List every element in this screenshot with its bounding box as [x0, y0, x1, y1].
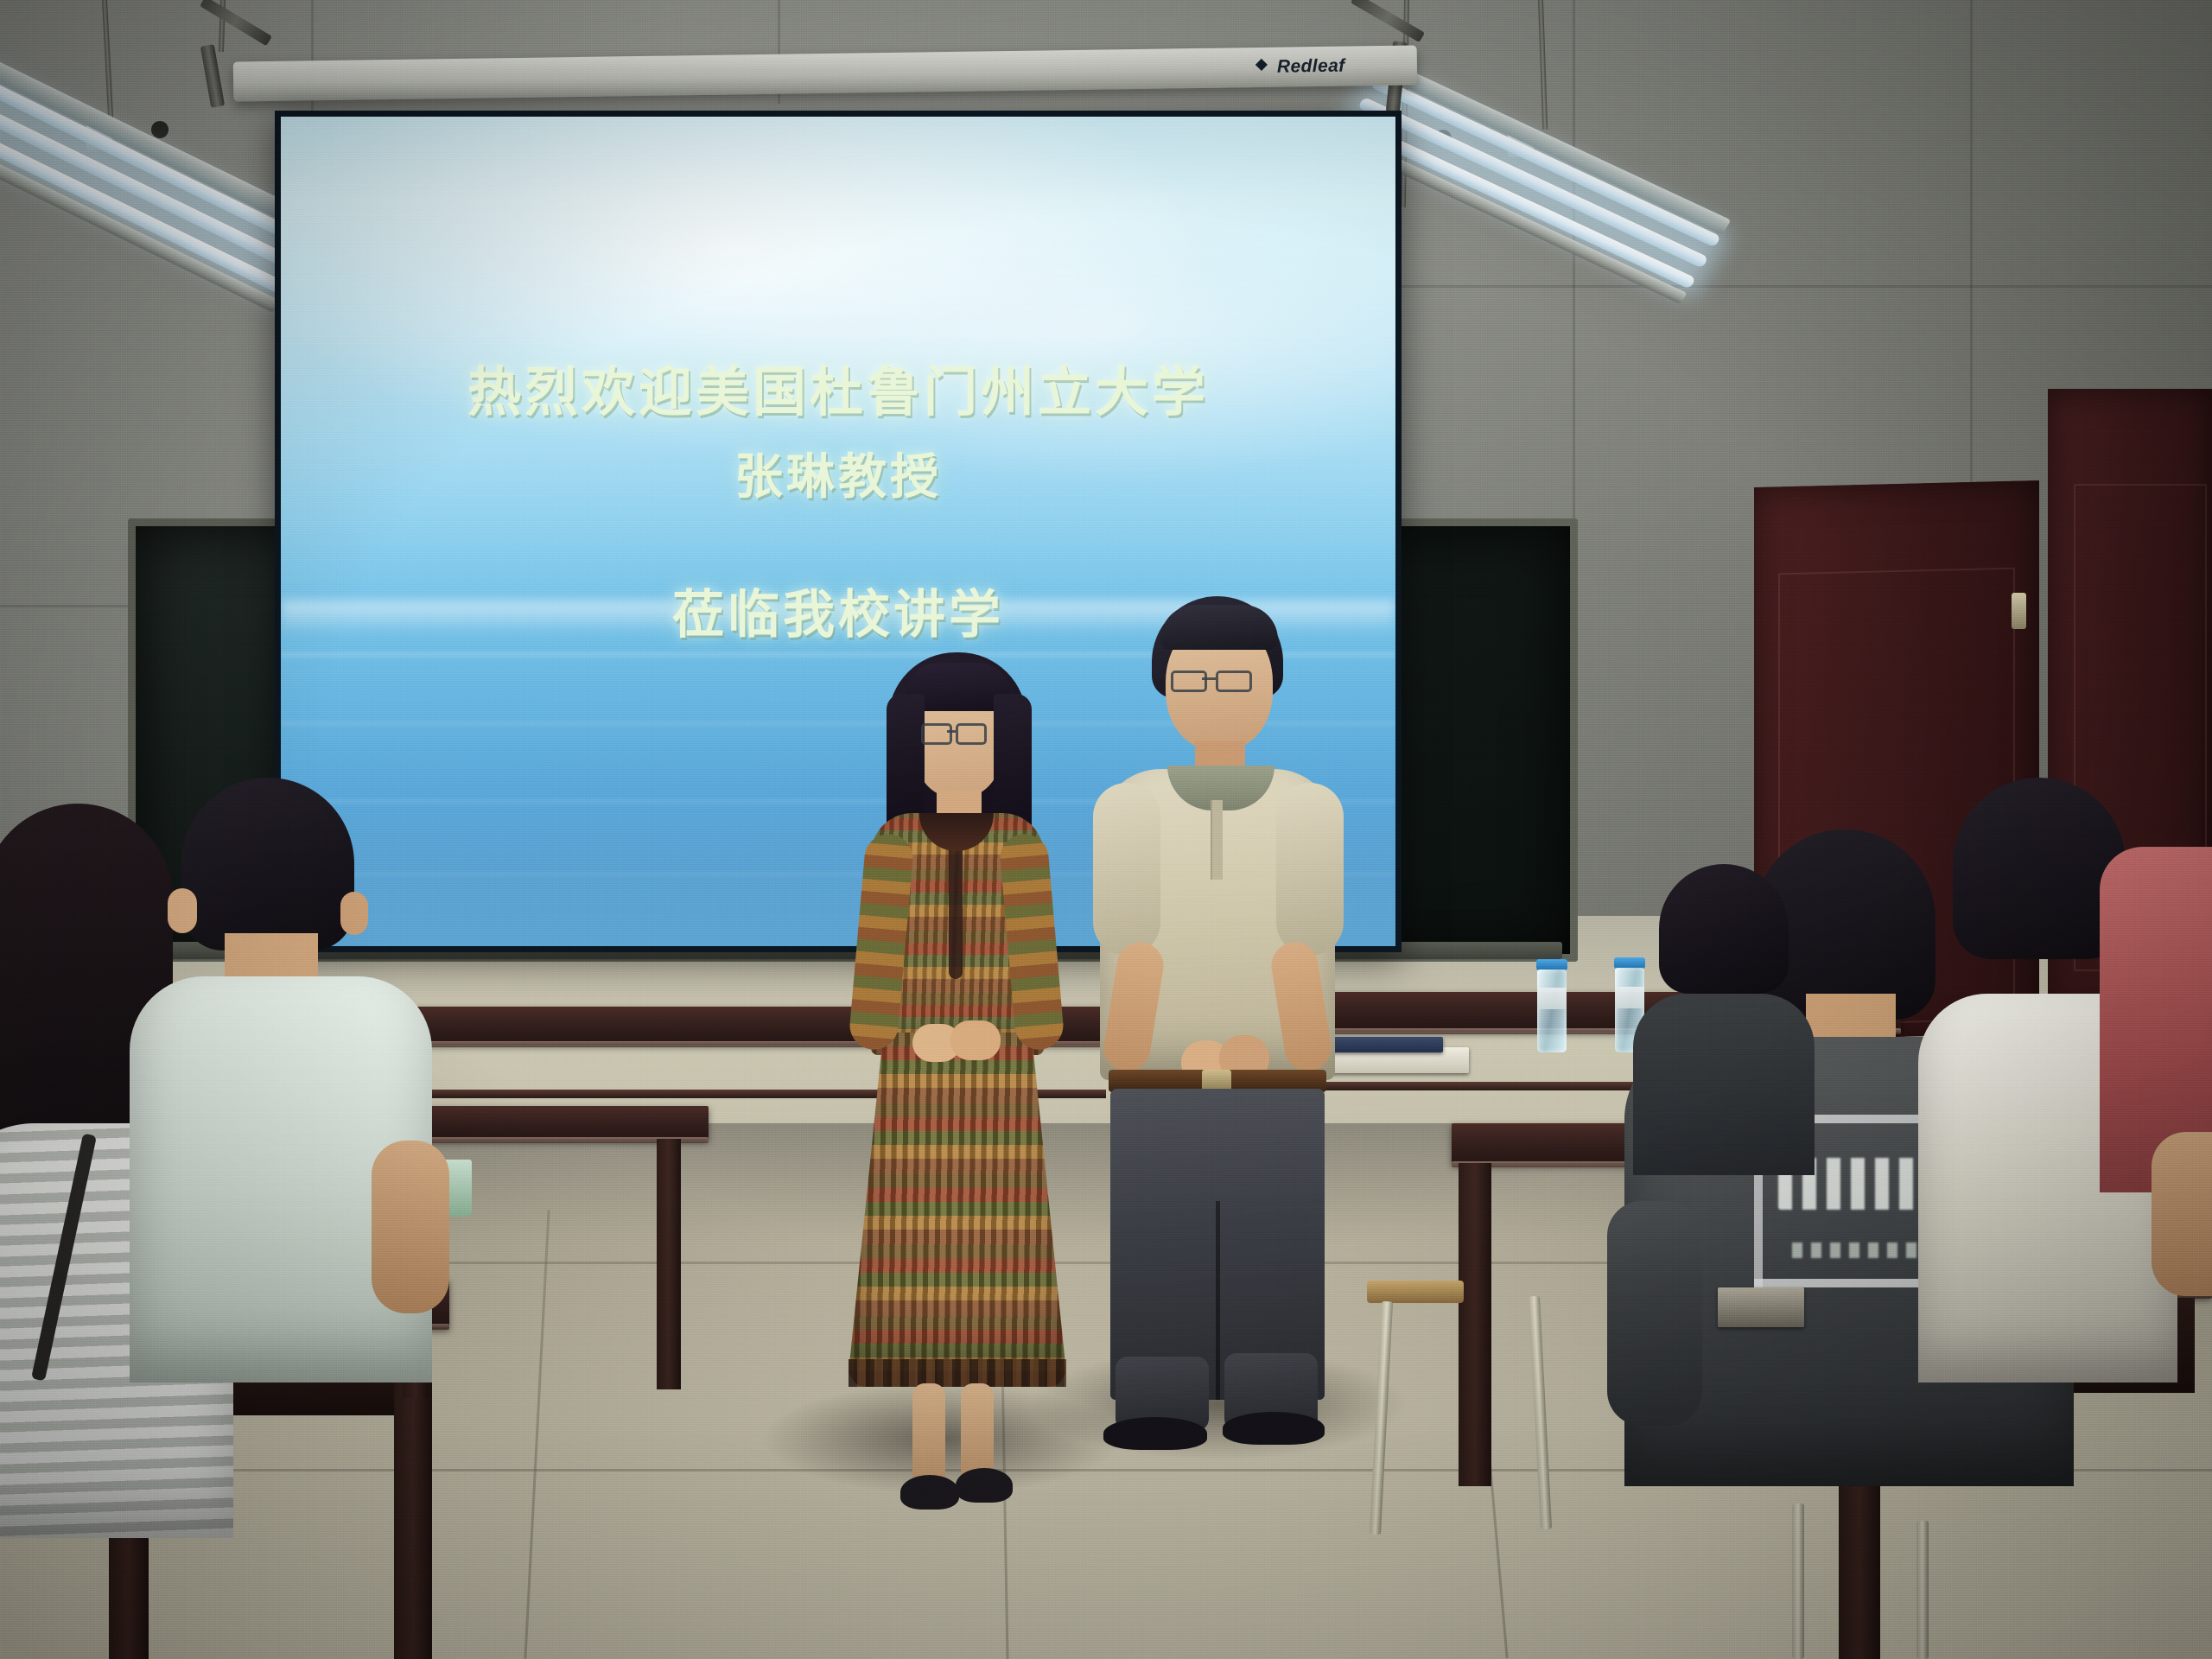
hair-top: [1160, 605, 1278, 650]
hair: [1659, 864, 1789, 994]
trouser-crease: [1216, 1201, 1220, 1400]
slide-line-1: 热烈欢迎美国杜鲁门州立大学: [281, 348, 1395, 426]
leg-left: [912, 1383, 945, 1487]
wall-seam: [1348, 285, 2212, 288]
sleeve-right: [1276, 783, 1344, 956]
slide-line-2: 张琳教授: [281, 438, 1395, 508]
shoe-right: [1223, 1412, 1325, 1445]
lecture-hall-photo: Redleaf 热烈欢迎美国杜鲁门州立大学 张琳教授 莅临我校讲学: [0, 0, 2212, 1659]
door-handle[interactable]: [2012, 593, 2026, 629]
ear-left: [168, 888, 197, 933]
desk-device[interactable]: [1718, 1287, 1804, 1327]
arm-right: [372, 1141, 449, 1313]
arm-left: [1607, 1201, 1702, 1426]
glasses: [1171, 671, 1268, 690]
tee-graphic-text: [1792, 1243, 1930, 1258]
hand-right: [950, 1020, 1001, 1060]
chair-seat[interactable]: [1367, 1281, 1464, 1303]
housing-logo-mark: [1255, 59, 1268, 71]
shoe-right: [956, 1468, 1013, 1503]
shoe-left: [900, 1475, 959, 1510]
dress-hem: [849, 1359, 1066, 1387]
sleeve-left: [1093, 783, 1160, 956]
student-back-right: [1624, 864, 1823, 1175]
dark-top: [1633, 994, 1815, 1175]
hair: [181, 778, 354, 950]
shoe-left: [1103, 1417, 1207, 1450]
student-left-white: [121, 778, 432, 1469]
student-right-pink: [2100, 847, 2212, 1313]
light-bolt: [151, 121, 168, 138]
arm: [2152, 1132, 2212, 1296]
water-bottle[interactable]: [1536, 959, 1567, 1052]
dress-skirt: [849, 1033, 1066, 1387]
glasses: [921, 723, 1002, 742]
screen-brand-label: Redleaf: [1277, 56, 1345, 78]
polo-placket: [1211, 800, 1223, 880]
ear-right: [340, 892, 368, 935]
man-presenter: [1084, 596, 1352, 1443]
woman-presenter: [829, 652, 1080, 1456]
